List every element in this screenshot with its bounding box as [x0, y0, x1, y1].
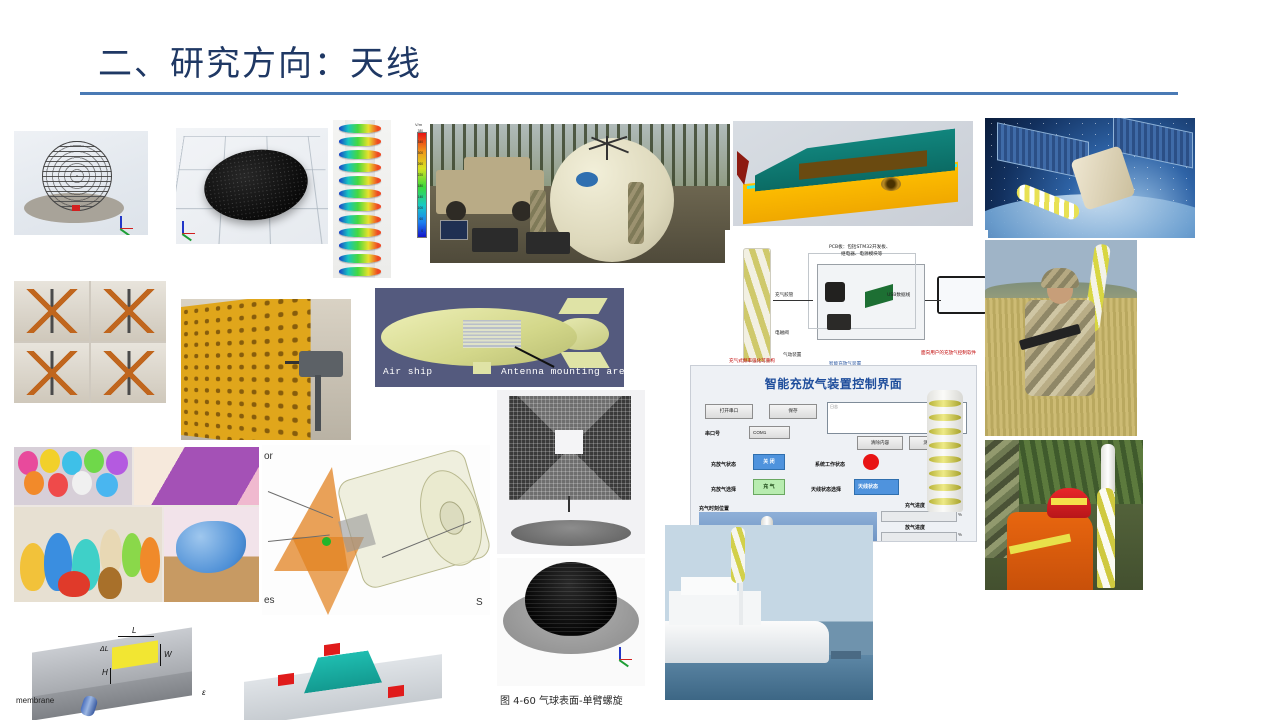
airship-label: Air ship — [383, 366, 433, 377]
field-laptop — [440, 220, 468, 240]
figure-microstrip-patch-antenna-diagram: L W H ΔL ε membrane — [14, 612, 220, 720]
photo-cell — [14, 343, 89, 403]
system-status-label: 系统工作状态 — [815, 461, 845, 468]
dim-label-epsilon: ε — [202, 688, 206, 697]
dim-label-H: H — [102, 668, 108, 677]
colorbar-tick: 220 — [418, 174, 423, 177]
dim-arrow-W — [160, 644, 161, 666]
figure-wireframe-sphere-antenna-simulation — [14, 131, 148, 235]
antenna-preview-image — [927, 390, 963, 512]
software-label: 面向用户的充放气控制软件 — [921, 350, 976, 356]
page-title: 二、研究方向：天线 — [98, 36, 422, 85]
dim-label-W: W — [164, 650, 172, 659]
ship-bridge — [681, 577, 737, 595]
figure-survey-ship-with-mast-antenna-photo — [665, 525, 873, 700]
colorbar-unit-label: V/m — [415, 122, 422, 127]
inflatable-helical-antenna — [1097, 488, 1115, 588]
figure-balloon-surface-single-arm-spiral-plot — [497, 558, 645, 686]
cad-coax-port — [881, 177, 901, 191]
airship-fin — [558, 298, 607, 314]
equipment-case — [526, 232, 570, 254]
photo-cell — [91, 343, 166, 403]
ship-hull — [665, 621, 829, 663]
figure-mesh-ellipsoid-model — [176, 128, 328, 244]
inflate-select-label: 充放气选择 — [711, 486, 736, 493]
equipment-case — [472, 228, 518, 252]
cad-red-port-face — [737, 151, 749, 185]
measurement-probe — [299, 351, 343, 377]
antenna-note-line1: 充气式频率强化可重构 — [729, 358, 775, 364]
inflate-progress-label: 充气进度 — [905, 502, 925, 509]
military-vehicle — [436, 170, 544, 214]
membrane-label: membrane — [16, 696, 54, 705]
antenna-state-label: 天线状态选择 — [811, 486, 841, 493]
cut-off-label-s: S — [476, 597, 483, 608]
solenoid-valve-part — [825, 282, 845, 302]
perforated-absorber-wall — [181, 299, 311, 440]
figure-tapered-slot-antenna-cad-model — [733, 121, 973, 226]
save-button[interactable]: 保存 — [769, 404, 817, 419]
inflate-state-value[interactable]: 关 闭 — [753, 454, 785, 470]
colorbar-tick: 380 — [418, 130, 423, 133]
soldier-figure — [628, 182, 644, 244]
control-laptop — [937, 276, 987, 314]
soldier-torso — [1025, 300, 1095, 396]
serial-port-dropdown[interactable]: COM1 — [749, 426, 790, 439]
distant-vessel — [831, 651, 861, 659]
probe-stand — [315, 375, 321, 431]
figure-cross-dipole-antenna-photo-grid — [14, 281, 166, 403]
inflate-progress-bar — [881, 511, 957, 522]
airship-gondola — [473, 362, 491, 374]
figure-conical-antenna-cad-cutaway: or es S — [262, 445, 490, 615]
mast-helical-antenna — [731, 527, 745, 583]
figure-disc-ground-plane-model — [497, 512, 645, 554]
pcb-label-line2: 继电器、电源模块等 — [841, 251, 882, 257]
colorbar-tick: 0 — [421, 230, 423, 233]
soldier-figure — [530, 190, 546, 238]
horn-feed-stem — [568, 496, 570, 512]
photo-cell — [14, 281, 89, 341]
hose-label: 充气胶管 — [775, 292, 793, 298]
figure-smart-inflation-device-block-diagram: PCB板：包括STM32开发板、 继电器、电源模块等 充气胶管 电磁阀 气动装置… — [725, 230, 988, 370]
antenna-array-patch — [463, 320, 521, 348]
figure-helical-antenna-efield-plot — [333, 120, 391, 278]
deflate-progress-unit: % — [958, 532, 962, 537]
sphere-logo — [576, 172, 598, 187]
sphere-mast — [606, 136, 608, 160]
cad-feed-point — [322, 537, 331, 546]
photo-balloon-figures — [14, 507, 162, 602]
photo-purple-balloon — [134, 447, 259, 505]
dim-arrow-H — [110, 668, 111, 684]
figure-inflation-control-software-screenshot[interactable]: 智能充放气装置控制界面 打开串口 保存 串口号 COM1 日志 清除内容 测试 … — [690, 365, 977, 542]
pump-label: 气动装置 — [783, 352, 801, 358]
antenna-mounting-area-label: Antenna mounting area — [501, 366, 624, 377]
cad-red-port — [278, 673, 294, 686]
usb-label: USB数据线 — [887, 292, 910, 298]
pcb-label-line1: PCB板：包括STM32开发板、 — [829, 244, 890, 250]
ship-superstructure — [669, 591, 761, 625]
log-placeholder: 日志 — [830, 404, 838, 410]
deflate-progress-bar — [881, 532, 957, 542]
clear-log-button[interactable]: 清除内容 — [857, 436, 903, 450]
colorbar-tick: 180 — [418, 185, 423, 188]
arrow-usb — [925, 300, 941, 301]
colorbar-tick: 260 — [418, 163, 423, 166]
air-pump-part — [827, 314, 851, 330]
ground-plane-disc — [511, 520, 631, 546]
figure-soldier-with-inflatable-antenna-photo — [985, 240, 1137, 436]
photo-balloon-wall — [14, 447, 132, 505]
serial-port-label: 串口号 — [705, 430, 720, 437]
arrow-hose — [773, 300, 813, 301]
cad-red-port — [324, 643, 340, 656]
dim-arrow-L — [118, 636, 154, 637]
firefighter-helmet — [1047, 488, 1091, 518]
figure-efield-colorbar: V/m 380 340 300 260 220 180 140 100 60 0 — [395, 120, 435, 250]
cut-off-label-es: es — [264, 595, 275, 606]
wireframe-sphere — [42, 141, 112, 211]
colorbar-tick: 300 — [418, 152, 423, 155]
open-serial-port-button[interactable]: 打开串口 — [705, 404, 753, 419]
slide-canvas: 二、研究方向：天线 V/m 380 340 300 260 220 180 — [0, 0, 1280, 720]
hemisphere-radiation-pattern — [525, 562, 617, 636]
cut-off-label-or: or — [264, 451, 273, 462]
dim-label-delta-L: ΔL — [100, 646, 109, 653]
antenna-state-dropdown[interactable]: 天线状态 — [854, 479, 899, 495]
axis-triad-icon — [180, 210, 206, 236]
title-underline-rule — [80, 92, 1178, 95]
deflate-progress-label: 放气进度 — [905, 524, 925, 531]
antenna-upper-tube — [1101, 444, 1115, 492]
cad-red-port — [388, 685, 404, 698]
dim-label-L: L — [132, 626, 136, 635]
colorbar-tick: 100 — [418, 207, 423, 210]
figure-pyramidal-horn-mesh-model — [497, 390, 645, 512]
system-status-led — [863, 454, 879, 470]
figure-satellite-with-helical-antenna-render — [985, 118, 1195, 238]
horn-center-slot — [555, 430, 583, 454]
soldier-helmet — [1041, 268, 1079, 288]
valve-label: 电磁阀 — [775, 330, 789, 336]
feed-point-marker — [72, 205, 80, 211]
position-label: 充气时刻位置 — [699, 505, 729, 512]
inflatable-helical-antenna — [743, 248, 771, 362]
inflate-select-value[interactable]: 充 气 — [753, 479, 785, 495]
figure-rescue-workers-deploying-antenna-photo — [985, 440, 1143, 590]
figure-green-teal-antenna-cad-model — [226, 640, 466, 720]
figure-balloon-products-photo-collage — [14, 447, 259, 602]
inflate-state-label: 充放气状态 — [711, 461, 736, 468]
axis-triad-icon — [118, 205, 144, 231]
colorbar-tick: 140 — [418, 196, 423, 199]
colorbar-tick: 340 — [418, 141, 423, 144]
colorbar-tick: 60 — [419, 218, 423, 221]
photo-whale-balloon — [164, 507, 259, 602]
figure-anechoic-chamber-measurement-photo — [181, 299, 351, 440]
figure-inflatable-sphere-field-deployment-photo — [430, 124, 730, 263]
photo-cell — [91, 281, 166, 341]
figure-caption: 图 4-60 气球表面-单臂螺旋 — [500, 692, 690, 707]
figure-airship-antenna-mounting-diagram: Air ship Antenna mounting area — [375, 288, 624, 387]
inflate-progress-unit: % — [958, 512, 962, 517]
axis-triad-icon — [617, 636, 643, 662]
